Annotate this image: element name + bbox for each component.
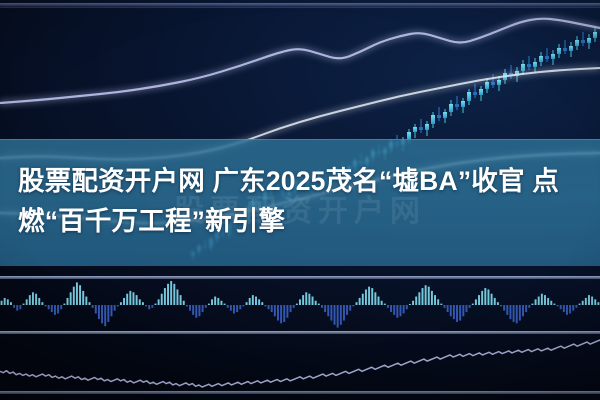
headline-title: 股票配资开户网 广东2025茂名“墟BA”收官 点燃“百千万工程”新引擎 (18, 161, 582, 241)
headline-band-top-edge (0, 139, 600, 140)
trend-line-panel (0, 334, 600, 391)
macd-bar-series (1, 281, 600, 328)
thumbnail-image: 股票配资开户网 股票配资开户网 广东2025茂名“墟BA”收官 点燃“百千万工程… (0, 0, 600, 400)
macd-histogram-panel (0, 279, 600, 331)
trend-line-series (0, 340, 600, 387)
